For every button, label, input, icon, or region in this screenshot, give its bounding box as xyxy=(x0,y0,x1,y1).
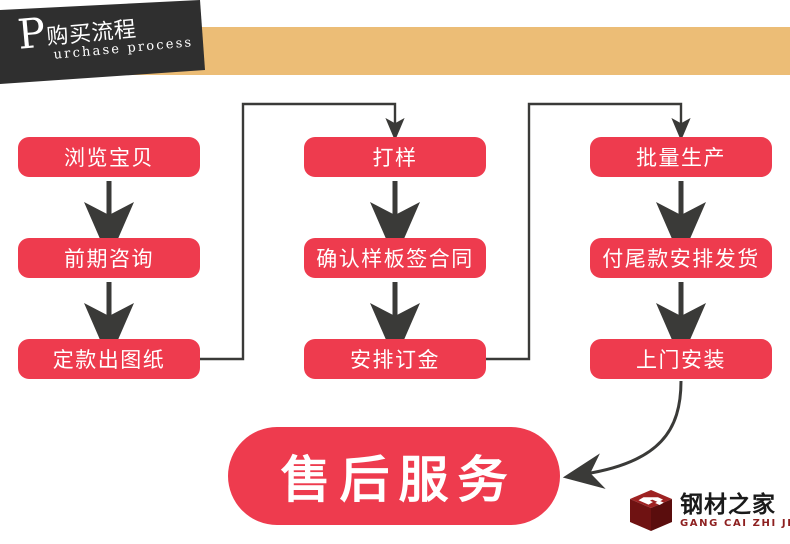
flow-step-pre-consultation[interactable]: 前期咨询 xyxy=(18,238,200,278)
brand-name-en: GANG CAI ZHI JIA xyxy=(680,518,790,530)
connector-c3-to-after-sales xyxy=(585,381,681,474)
brand-logo: 钢材之家 GANG CAI ZHI JIA xyxy=(628,484,784,538)
brand-logo-text: 钢材之家 GANG CAI ZHI JIA xyxy=(680,493,790,530)
flow-step-sampling[interactable]: 打样 xyxy=(304,137,486,177)
header-tag-shape xyxy=(0,0,205,84)
flow-step-browse-product[interactable]: 浏览宝贝 xyxy=(18,137,200,177)
flow-step-mass-production[interactable]: 批量生产 xyxy=(590,137,772,177)
flow-step-confirm-sample-sign-contract[interactable]: 确认样板签合同 xyxy=(304,238,486,278)
flow-step-confirm-design-drawing[interactable]: 定款出图纸 xyxy=(18,339,200,379)
brand-name-cn: 钢材之家 xyxy=(680,493,790,518)
flow-step-onsite-installation[interactable]: 上门安装 xyxy=(590,339,772,379)
flow-step-arrange-deposit[interactable]: 安排订金 xyxy=(304,339,486,379)
cube-g-icon xyxy=(628,488,674,534)
flow-step-after-sales-service[interactable]: 售后服务 xyxy=(228,427,560,525)
header-title-tag: P 购买流程 urchase process xyxy=(0,0,205,84)
flow-step-pay-balance-arrange-shipping[interactable]: 付尾款安排发货 xyxy=(590,238,772,278)
purchase-process-flowchart: P 购买流程 urchase process xyxy=(0,0,790,544)
